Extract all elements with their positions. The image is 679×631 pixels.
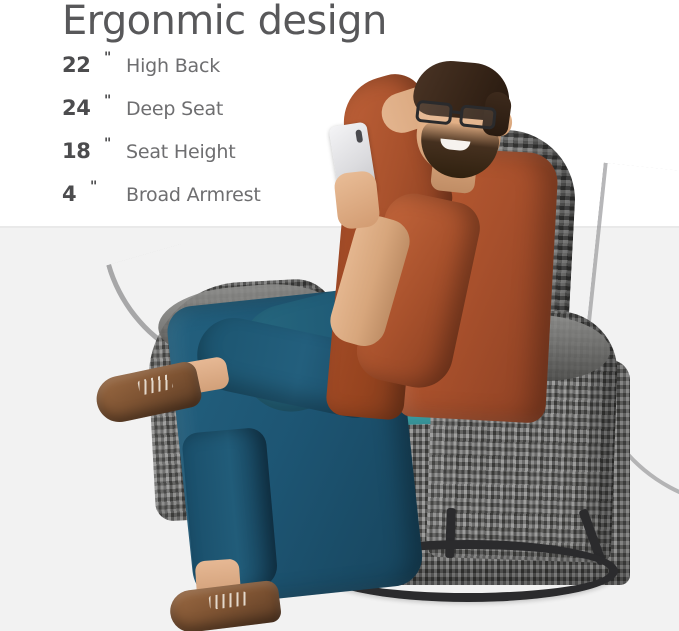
page-title: Ergonmic design [62, 0, 387, 44]
spec-value: 24 [62, 96, 91, 120]
spec-row-seat-height: 18 " Seat Height [0, 134, 400, 177]
product-infographic: Ergonmic design 22 " High Back 24 " Deep… [0, 0, 679, 631]
spec-label: Deep Seat [126, 98, 223, 120]
spec-unit: " [90, 179, 97, 195]
spec-label: Broad Armrest [126, 184, 261, 206]
spec-value: 22 [62, 53, 91, 77]
spec-unit: " [104, 93, 111, 109]
spec-label: High Back [126, 55, 220, 77]
eyeglasses-lens-left [415, 100, 453, 126]
specs-text-panel: Ergonmic design 22 " High Back 24 " Deep… [0, 0, 400, 226]
spec-value: 18 [62, 139, 91, 163]
spec-row-broad-armrest: 4 " Broad Armrest [0, 177, 400, 220]
spec-list: 22 " High Back 24 " Deep Seat 18 " Seat … [0, 48, 400, 220]
model-shoe-planted [168, 579, 282, 631]
spec-label: Seat Height [126, 141, 236, 163]
spec-row-deep-seat: 24 " Deep Seat [0, 91, 400, 134]
spec-unit: " [104, 136, 111, 152]
eyeglasses-lens-right [459, 104, 497, 130]
spec-row-high-back: 22 " High Back [0, 48, 400, 91]
spec-unit: " [104, 50, 111, 66]
spec-value: 4 [62, 182, 76, 206]
